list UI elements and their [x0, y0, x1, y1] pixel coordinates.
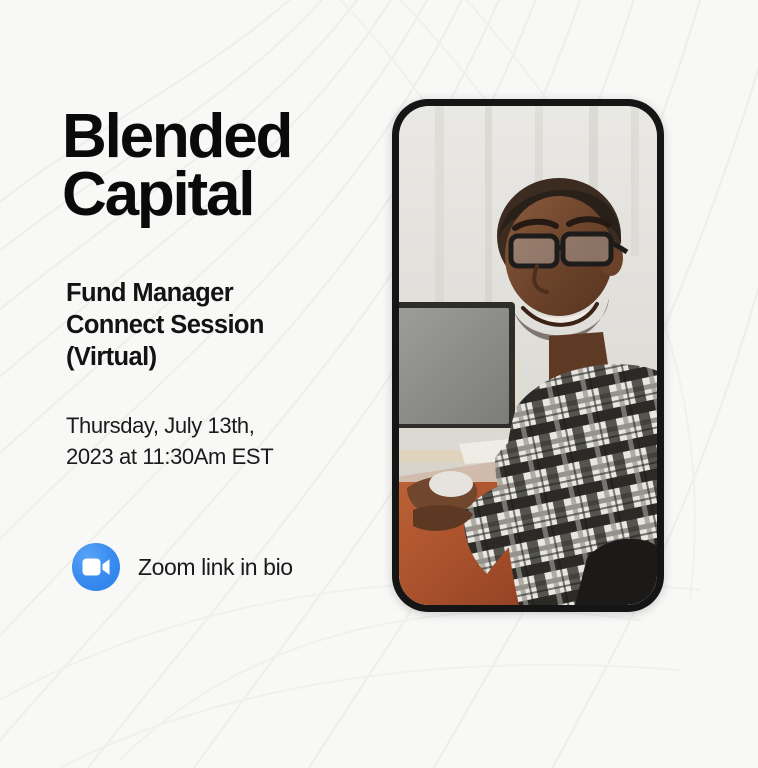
- footer: SETSI coastcapital® SAVINGS www.setsi.ca: [0, 676, 758, 768]
- poster-canvas: Blended Capital Fund Manager Connect Ses…: [0, 0, 758, 768]
- phone-mockup: [392, 99, 664, 612]
- zoom-link-label: Zoom link in bio: [138, 554, 293, 581]
- text-column: Blended Capital Fund Manager Connect Ses…: [62, 108, 362, 473]
- photo-man-at-desk: [399, 106, 657, 605]
- zoom-link-row[interactable]: Zoom link in bio: [72, 543, 293, 591]
- event-datetime: Thursday, July 13th, 2023 at 11:30Am EST: [66, 411, 362, 473]
- zoom-video-camera-icon: [72, 543, 120, 591]
- event-subtitle: Fund Manager Connect Session (Virtual): [66, 277, 362, 373]
- page-title: Blended Capital: [62, 108, 362, 225]
- video-camera-glyph: [82, 558, 110, 576]
- phone-screen: [399, 106, 657, 605]
